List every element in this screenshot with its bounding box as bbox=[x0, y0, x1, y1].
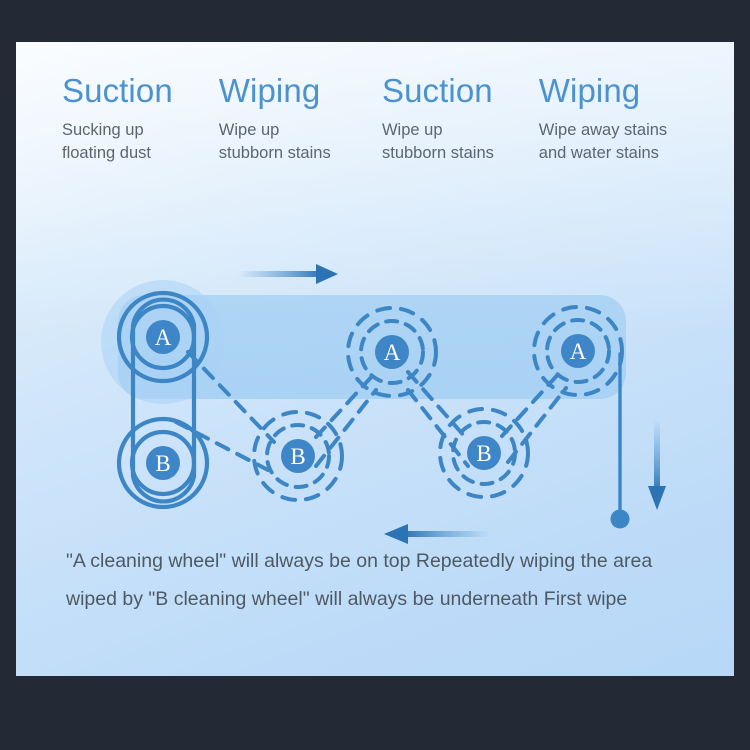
header-title-1: Suction bbox=[62, 72, 219, 110]
header-desc-1-line-1: Sucking up bbox=[62, 119, 212, 142]
header-desc-4-line-2: and water stains bbox=[539, 142, 689, 165]
header-column-3: Suction Wipe up stubborn stains bbox=[382, 72, 539, 166]
header-desc-2-line-2: stubborn stains bbox=[219, 142, 369, 165]
header-title-2: Wiping bbox=[219, 72, 382, 110]
header-desc-3-line-2: stubborn stains bbox=[382, 142, 532, 165]
wheel-a-2-label: A bbox=[384, 340, 401, 365]
wheel-b-2: B bbox=[254, 412, 342, 500]
header-desc-4: Wipe away stains and water stains bbox=[539, 119, 689, 166]
wheel-a-3-label: A bbox=[570, 339, 587, 364]
arrow-forward-shaft bbox=[238, 271, 322, 277]
arrow-forward-head bbox=[316, 264, 338, 284]
header-desc-2: Wipe up stubborn stains bbox=[219, 119, 369, 166]
wheel-b-3-label: B bbox=[476, 441, 491, 466]
caption-line-2: wiped by "B cleaning wheel" will always … bbox=[66, 580, 696, 618]
screen-root: ABBABA bbox=[0, 0, 750, 750]
wheel-a-1: A bbox=[119, 293, 207, 381]
caption-line-1: "A cleaning wheel" will always be on top… bbox=[66, 542, 696, 580]
header-desc-2-line-1: Wipe up bbox=[219, 119, 369, 142]
arrow-return-shaft bbox=[404, 531, 490, 537]
wheel-b-1: B bbox=[119, 419, 207, 507]
header-column-1: Suction Sucking up floating dust bbox=[62, 72, 219, 166]
header-column-4: Wiping Wipe away stains and water stains bbox=[539, 72, 702, 166]
drop-dot bbox=[611, 510, 630, 529]
arrow-descend-head bbox=[648, 486, 666, 510]
header-desc-3-line-1: Wipe up bbox=[382, 119, 532, 142]
arrow-return-head bbox=[384, 524, 408, 544]
wheel-b-3: B bbox=[440, 409, 528, 497]
header-columns: Suction Sucking up floating dust Wiping … bbox=[62, 72, 702, 166]
header-desc-1: Sucking up floating dust bbox=[62, 119, 212, 166]
arrow-descend-shaft bbox=[654, 420, 660, 492]
header-title-4: Wiping bbox=[539, 72, 702, 110]
caption-block: "A cleaning wheel" will always be on top… bbox=[66, 542, 696, 618]
wheel-b-1-label: B bbox=[155, 451, 170, 476]
arrow-forward bbox=[238, 264, 338, 284]
header-desc-3: Wipe up stubborn stains bbox=[382, 119, 532, 166]
header-desc-1-line-2: floating dust bbox=[62, 142, 212, 165]
wheel-b-2-label: B bbox=[290, 444, 305, 469]
header-column-2: Wiping Wipe up stubborn stains bbox=[219, 72, 382, 166]
arrow-descend bbox=[648, 420, 666, 510]
wheel-a-1-label: A bbox=[155, 325, 172, 350]
header-desc-4-line-1: Wipe away stains bbox=[539, 119, 689, 142]
infographic-panel: ABBABA bbox=[16, 42, 734, 676]
header-title-3: Suction bbox=[382, 72, 539, 110]
arrow-return bbox=[384, 524, 490, 544]
